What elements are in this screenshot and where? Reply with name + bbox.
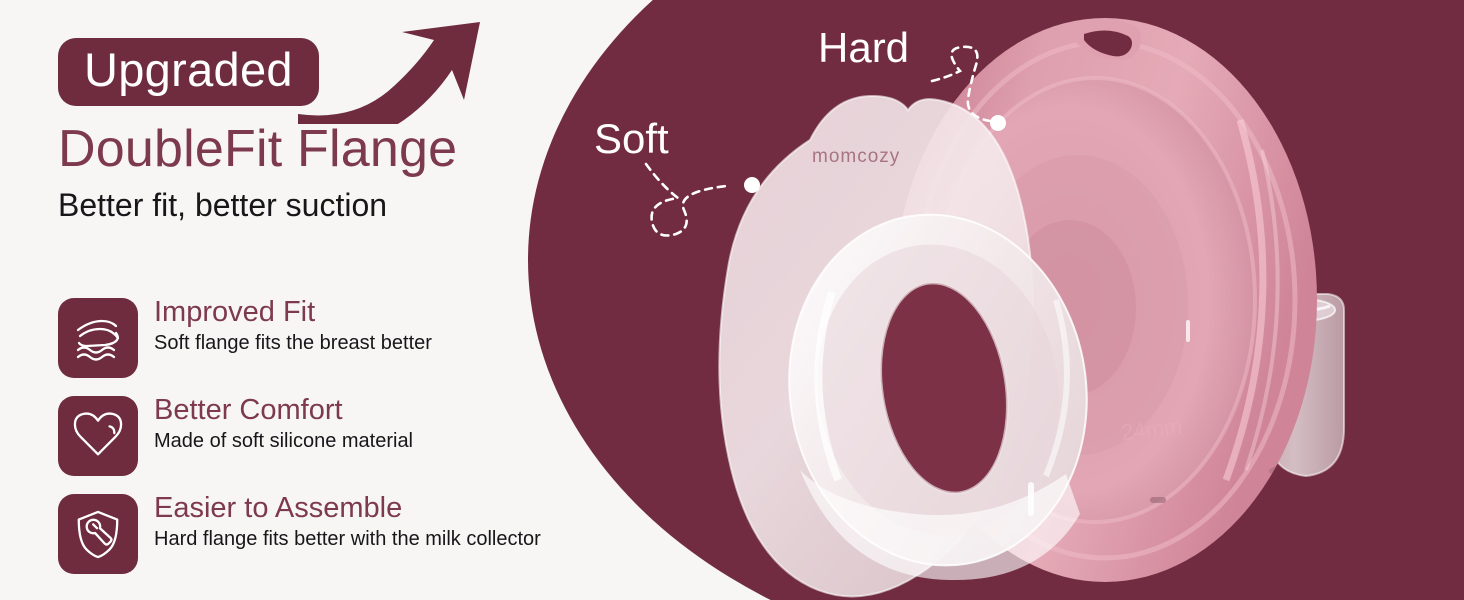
callout-label-soft: Soft	[594, 118, 669, 160]
feature-description: Hard flange fits better with the milk co…	[154, 527, 541, 552]
shield-wrench-icon	[73, 509, 123, 559]
feature-icon-tile	[58, 494, 138, 574]
page-subtitle: Better fit, better suction	[58, 186, 387, 224]
feature-text: Improved Fit Soft flange fits the breast…	[154, 296, 432, 356]
headline-panel: Upgraded DoubleFit Flange Better fit, be…	[0, 0, 540, 600]
heart-icon	[73, 411, 123, 461]
product-banner: 24mm momcozy	[0, 0, 1464, 600]
feature-title: Improved Fit	[154, 296, 432, 329]
hand-over-waves-icon	[72, 312, 124, 364]
feature-text: Better Comfort Made of soft silicone mat…	[154, 394, 413, 454]
feature-item-better-comfort: Better Comfort Made of soft silicone mat…	[58, 396, 678, 478]
upgraded-badge: Upgraded	[58, 38, 319, 106]
maroon-right-fill	[1070, 0, 1464, 600]
feature-icon-tile	[58, 396, 138, 476]
feature-item-improved-fit: Improved Fit Soft flange fits the breast…	[58, 298, 678, 380]
feature-description: Made of soft silicone material	[154, 429, 413, 454]
callout-label-hard: Hard	[818, 27, 909, 69]
page-title: DoubleFit Flange	[58, 120, 457, 178]
feature-item-easier-to-assemble: Easier to Assemble Hard flange fits bett…	[58, 494, 678, 576]
feature-list: Improved Fit Soft flange fits the breast…	[58, 298, 678, 592]
feature-title: Better Comfort	[154, 394, 413, 427]
curved-up-right-arrow-icon	[296, 14, 486, 124]
feature-description: Soft flange fits the breast better	[154, 331, 432, 356]
feature-icon-tile	[58, 298, 138, 378]
feature-title: Easier to Assemble	[154, 492, 541, 525]
feature-text: Easier to Assemble Hard flange fits bett…	[154, 492, 541, 552]
